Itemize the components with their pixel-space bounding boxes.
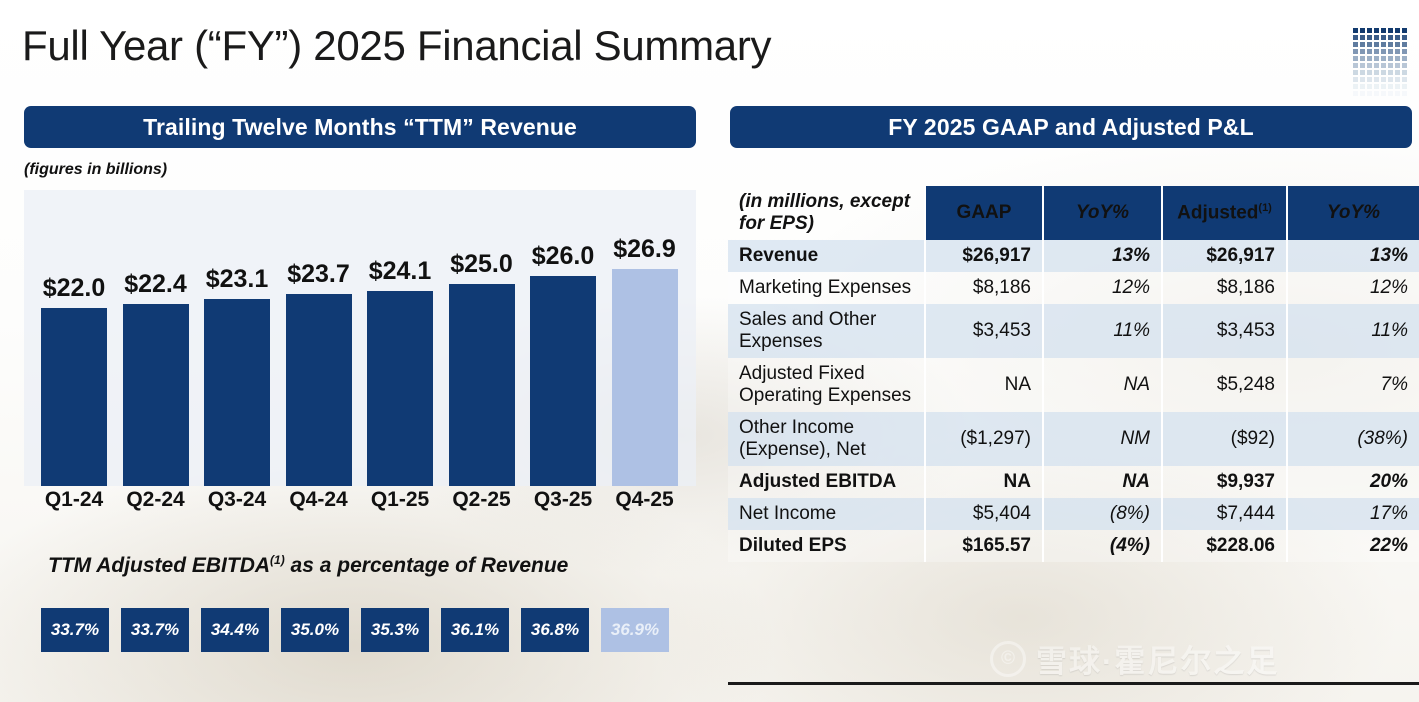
bar-column: $23.7 (286, 190, 352, 486)
dot-grid-cell (1395, 49, 1400, 54)
revenue-bar-value-label: $24.1 (357, 257, 443, 286)
pl-cell-adjusted: $9,937 (1162, 466, 1287, 498)
ebitda-percent-chip: 36.9% (601, 608, 669, 652)
pl-cell-gaap-yoy: NA (1043, 466, 1162, 498)
dot-grid-cell (1367, 49, 1372, 54)
pl-cell-adjusted-yoy: 20% (1287, 466, 1419, 498)
dot-grid-cell (1374, 35, 1379, 40)
pl-cell-adjusted-yoy: 13% (1287, 240, 1419, 272)
pl-row-label: Net Income (728, 498, 925, 530)
pl-cell-adjusted-yoy: 12% (1287, 272, 1419, 304)
dot-grid-cell (1402, 35, 1407, 40)
revenue-chart-axis-labels: Q1-24Q2-24Q3-24Q4-24Q1-25Q2-25Q3-25Q4-25 (24, 488, 696, 516)
dot-grid-cell (1381, 56, 1386, 61)
dot-grid-cell (1353, 77, 1358, 82)
pl-column-header: YoY% (1043, 186, 1162, 240)
ebitda-caption-main: TTM Adjusted EBITDA (48, 554, 270, 577)
revenue-bar (123, 304, 189, 486)
pl-cell-gaap-yoy: 13% (1043, 240, 1162, 272)
watermark-logo-icon: © (990, 641, 1026, 677)
pl-cell-gaap: NA (925, 358, 1043, 412)
pl-column-header: Adjusted(1) (1162, 186, 1287, 240)
pl-table-header-row: (in millions, except for EPS) GAAPYoY%Ad… (728, 186, 1419, 240)
dot-grid-cell (1353, 49, 1358, 54)
table-row: Net Income$5,404(8%)$7,44417% (728, 498, 1419, 530)
pl-cell-adjusted: $7,444 (1162, 498, 1287, 530)
page-title: Full Year (“FY”) 2025 Financial Summary (22, 22, 771, 70)
revenue-bar-axis-label: Q1-24 (31, 488, 117, 512)
dot-grid-cell (1381, 35, 1386, 40)
revenue-bar-axis-label: Q3-24 (194, 488, 280, 512)
bar-column: $24.1 (367, 190, 433, 486)
pl-cell-adjusted: $5,248 (1162, 358, 1287, 412)
pl-column-header: YoY% (1287, 186, 1419, 240)
revenue-bar (204, 299, 270, 486)
pl-cell-adjusted: $8,186 (1162, 272, 1287, 304)
revenue-bar-value-label: $22.4 (113, 270, 199, 299)
pl-cell-gaap: ($1,297) (925, 412, 1043, 466)
dot-grid-cell (1388, 91, 1393, 96)
dot-grid-cell (1353, 63, 1358, 68)
revenue-bar-value-label: $25.0 (439, 250, 525, 279)
dot-grid-cell (1388, 28, 1393, 33)
dot-grid-cell (1381, 49, 1386, 54)
dot-grid-cell (1360, 56, 1365, 61)
table-row: Marketing Expenses$8,18612%$8,18612% (728, 272, 1419, 304)
ebitda-percent-chip: 35.3% (361, 608, 429, 652)
dot-grid-cell (1367, 42, 1372, 47)
dot-grid-cell (1381, 28, 1386, 33)
dot-grid-cell (1402, 28, 1407, 33)
dot-grid-cell (1381, 77, 1386, 82)
ebitda-percent-chip: 33.7% (41, 608, 109, 652)
revenue-bar (449, 284, 515, 486)
pl-cell-gaap: $165.57 (925, 530, 1043, 562)
revenue-bar (41, 308, 107, 486)
dot-grid-cell (1395, 77, 1400, 82)
dot-grid-cell (1388, 70, 1393, 75)
pl-column-header-footnote: (1) (1258, 202, 1271, 214)
dot-grid-cell (1374, 70, 1379, 75)
pl-table-head: (in millions, except for EPS) GAAPYoY%Ad… (728, 186, 1419, 240)
dot-grid-cell (1381, 91, 1386, 96)
dot-grid-cell (1360, 35, 1365, 40)
pl-cell-adjusted-yoy: 22% (1287, 530, 1419, 562)
bar-column: $22.0 (41, 190, 107, 486)
bar-column: $23.1 (204, 190, 270, 486)
pl-units-note: (in millions, except for EPS) (728, 186, 925, 240)
dot-grid-cell (1367, 28, 1372, 33)
dot-grid-cell (1402, 70, 1407, 75)
dot-grid-cell (1374, 77, 1379, 82)
pl-cell-adjusted-yoy: 7% (1287, 358, 1419, 412)
pl-cell-adjusted: $228.06 (1162, 530, 1287, 562)
dot-grid-cell (1388, 35, 1393, 40)
dot-grid-cell (1367, 56, 1372, 61)
revenue-bar-value-label: $23.7 (276, 260, 362, 289)
dot-grid-cell (1402, 84, 1407, 89)
table-row: Sales and Other Expenses$3,45311%$3,4531… (728, 304, 1419, 358)
pl-row-label: Revenue (728, 240, 925, 272)
dot-grid-cell (1402, 63, 1407, 68)
dot-grid-cell (1388, 77, 1393, 82)
dot-grid-cell (1367, 91, 1372, 96)
pl-row-label: Adjusted Fixed Operating Expenses (728, 358, 925, 412)
dot-grid-cell (1367, 63, 1372, 68)
pl-cell-adjusted-yoy: 17% (1287, 498, 1419, 530)
pl-cell-gaap-yoy: (4%) (1043, 530, 1162, 562)
revenue-bar (612, 269, 678, 486)
revenue-bar-chart: $22.0$22.4$23.1$23.7$24.1$25.0$26.0$26.9 (24, 190, 696, 486)
ebitda-percent-chip: 33.7% (121, 608, 189, 652)
pl-table: (in millions, except for EPS) GAAPYoY%Ad… (728, 186, 1419, 562)
revenue-bar-axis-label: Q1-25 (357, 488, 443, 512)
dot-grid-cell (1402, 42, 1407, 47)
bar-column: $22.4 (123, 190, 189, 486)
dot-grid-cell (1367, 35, 1372, 40)
dot-grid-cell (1381, 70, 1386, 75)
pl-row-label: Marketing Expenses (728, 272, 925, 304)
revenue-bar-value-label: $26.9 (602, 235, 688, 264)
revenue-bar-axis-label: Q2-25 (439, 488, 525, 512)
table-row: Adjusted Fixed Operating ExpensesNANA$5,… (728, 358, 1419, 412)
dot-grid-cell (1402, 49, 1407, 54)
figures-in-billions-note: (figures in billions) (24, 161, 167, 179)
ebitda-percent-chip: 36.1% (441, 608, 509, 652)
watermark: © 雪球·霍尼尔之足 (990, 636, 1279, 681)
dot-grid-cell (1395, 63, 1400, 68)
dot-grid-cell (1388, 84, 1393, 89)
dot-grid-icon (1353, 28, 1407, 96)
dot-grid-cell (1353, 28, 1358, 33)
revenue-bar (367, 291, 433, 486)
pl-row-label: Adjusted EBITDA (728, 466, 925, 498)
dot-grid-cell (1395, 56, 1400, 61)
pl-cell-gaap: $8,186 (925, 272, 1043, 304)
pl-cell-gaap-yoy: NA (1043, 358, 1162, 412)
pl-cell-gaap-yoy: NM (1043, 412, 1162, 466)
revenue-bar-axis-label: Q4-25 (602, 488, 688, 512)
dot-grid-cell (1402, 56, 1407, 61)
dot-grid-cell (1374, 28, 1379, 33)
table-row: Other Income (Expense), Net($1,297)NM($9… (728, 412, 1419, 466)
pl-cell-adjusted: $26,917 (1162, 240, 1287, 272)
ebitda-percent-chip: 35.0% (281, 608, 349, 652)
pl-cell-gaap: NA (925, 466, 1043, 498)
bar-column: $25.0 (449, 190, 515, 486)
ebitda-percent-chip: 36.8% (521, 608, 589, 652)
dot-grid-cell (1374, 63, 1379, 68)
table-row: Diluted EPS$165.57(4%)$228.0622% (728, 530, 1419, 562)
table-row: Adjusted EBITDANANA$9,93720% (728, 466, 1419, 498)
revenue-bar-axis-label: Q4-24 (276, 488, 362, 512)
dot-grid-cell (1353, 42, 1358, 47)
pl-row-label: Sales and Other Expenses (728, 304, 925, 358)
dot-grid-cell (1360, 42, 1365, 47)
pl-cell-adjusted-yoy: 11% (1287, 304, 1419, 358)
dot-grid-cell (1395, 84, 1400, 89)
pl-row-label: Other Income (Expense), Net (728, 412, 925, 466)
bar-column: $26.0 (530, 190, 596, 486)
dot-grid-cell (1360, 91, 1365, 96)
pl-cell-adjusted: ($92) (1162, 412, 1287, 466)
left-panel-header: Trailing Twelve Months “TTM” Revenue (24, 106, 696, 148)
dot-grid-cell (1374, 42, 1379, 47)
revenue-bar-axis-label: Q2-24 (113, 488, 199, 512)
ebitda-caption-footnote: (1) (270, 553, 285, 567)
pl-cell-gaap-yoy: 11% (1043, 304, 1162, 358)
pl-cell-adjusted-yoy: (38%) (1287, 412, 1419, 466)
dot-grid-cell (1388, 63, 1393, 68)
table-row: Revenue$26,91713%$26,91713% (728, 240, 1419, 272)
revenue-bar (530, 276, 596, 486)
dot-grid-cell (1388, 49, 1393, 54)
dot-grid-cell (1367, 70, 1372, 75)
revenue-bar-value-label: $26.0 (520, 242, 606, 271)
dot-grid-cell (1374, 91, 1379, 96)
pl-cell-gaap: $26,917 (925, 240, 1043, 272)
pl-cell-gaap-yoy: 12% (1043, 272, 1162, 304)
dot-grid-cell (1395, 42, 1400, 47)
dot-grid-cell (1402, 77, 1407, 82)
revenue-bar-value-label: $23.1 (194, 265, 280, 294)
dot-grid-cell (1353, 56, 1358, 61)
dot-grid-cell (1360, 84, 1365, 89)
pl-row-label: Diluted EPS (728, 530, 925, 562)
dot-grid-cell (1360, 77, 1365, 82)
table-bottom-rule (728, 682, 1419, 685)
dot-grid-cell (1395, 35, 1400, 40)
dot-grid-cell (1374, 49, 1379, 54)
dot-grid-cell (1353, 91, 1358, 96)
revenue-bar-axis-label: Q3-25 (520, 488, 606, 512)
revenue-bar (286, 294, 352, 486)
revenue-bar-value-label: $22.0 (31, 274, 117, 303)
dot-grid-cell (1360, 63, 1365, 68)
dot-grid-cell (1395, 91, 1400, 96)
dot-grid-cell (1388, 42, 1393, 47)
pl-table-body: Revenue$26,91713%$26,91713%Marketing Exp… (728, 240, 1419, 562)
dot-grid-cell (1395, 28, 1400, 33)
pl-cell-adjusted: $3,453 (1162, 304, 1287, 358)
ebitda-caption: TTM Adjusted EBITDA(1) as a percentage o… (48, 553, 568, 578)
dot-grid-cell (1381, 84, 1386, 89)
dot-grid-cell (1360, 70, 1365, 75)
ebitda-caption-rest: as a percentage of Revenue (285, 554, 569, 577)
dot-grid-cell (1388, 56, 1393, 61)
dot-grid-cell (1367, 84, 1372, 89)
bar-column: $26.9 (612, 190, 678, 486)
watermark-text: 雪球·霍尼尔之足 (1036, 636, 1279, 681)
right-panel-header: FY 2025 GAAP and Adjusted P&L (730, 106, 1412, 148)
dot-grid-cell (1374, 84, 1379, 89)
pl-cell-gaap-yoy: (8%) (1043, 498, 1162, 530)
dot-grid-cell (1374, 56, 1379, 61)
dot-grid-cell (1360, 28, 1365, 33)
dot-grid-cell (1381, 42, 1386, 47)
dot-grid-cell (1367, 77, 1372, 82)
ebitda-percent-chip: 34.4% (201, 608, 269, 652)
dot-grid-cell (1395, 70, 1400, 75)
dot-grid-cell (1402, 91, 1407, 96)
pl-cell-gaap: $3,453 (925, 304, 1043, 358)
dot-grid-cell (1360, 49, 1365, 54)
dot-grid-cell (1353, 35, 1358, 40)
pl-cell-gaap: $5,404 (925, 498, 1043, 530)
dot-grid-cell (1353, 70, 1358, 75)
dot-grid-cell (1381, 63, 1386, 68)
dot-grid-cell (1353, 84, 1358, 89)
pl-column-header: GAAP (925, 186, 1043, 240)
